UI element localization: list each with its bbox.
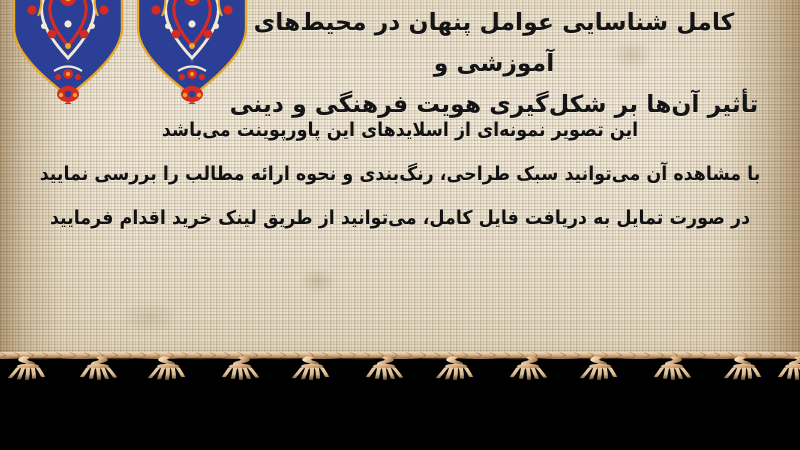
slide-title: کامل شناسایی عوامل پنهان در محیط‌های آمو…: [214, 2, 774, 125]
slide-body: این تصویر نمونه‌ای از اسلایدهای این پاور…: [0, 108, 800, 240]
persian-medallion-left-icon: [8, 0, 128, 108]
slide-body-line-3: در صورت تمایل به دریافت فایل کامل، می‌تو…: [32, 196, 768, 240]
slide-body-line-1: این تصویر نمونه‌ای از اسلایدهای این پاور…: [32, 108, 768, 152]
slide-title-line-1: کامل شناسایی عوامل پنهان در محیط‌های آمو…: [214, 2, 774, 84]
tassel-group: [10, 358, 800, 380]
tassel-fringe-border: [0, 352, 800, 450]
braided-cord-icon: [0, 352, 800, 380]
slide-body-line-2: با مشاهده آن می‌توانید سبک طراحی، رنگ‌بن…: [32, 152, 768, 196]
slide-canvas: کامل شناسایی عوامل پنهان در محیط‌های آمو…: [0, 0, 800, 450]
